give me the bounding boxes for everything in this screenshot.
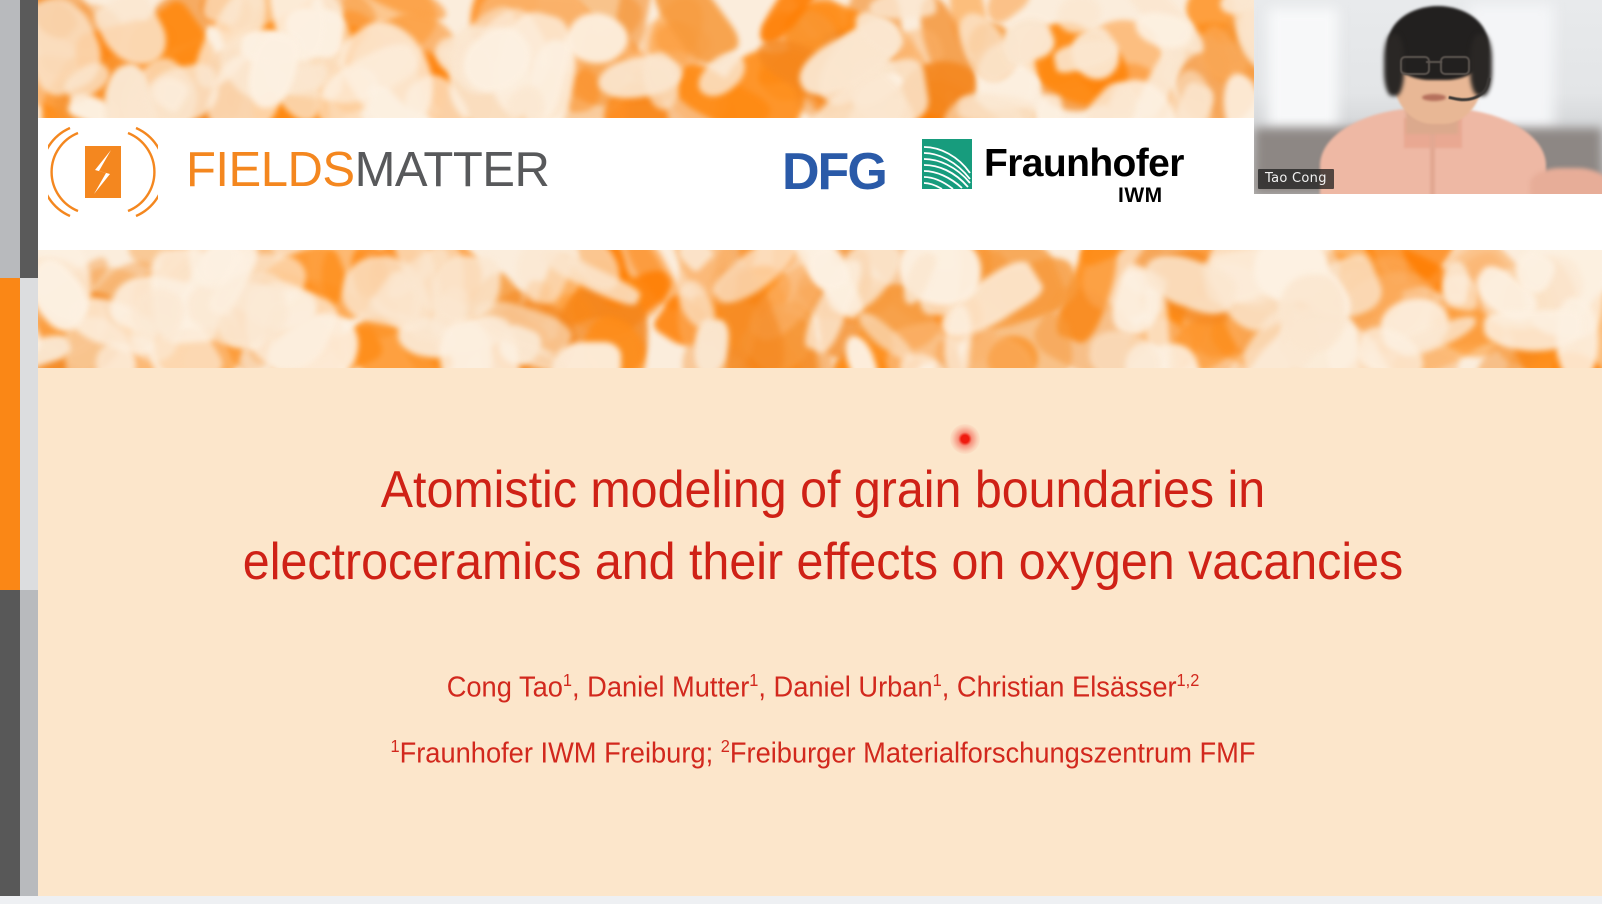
affiliation-text: Freiburger Materialforschungszentrum FMF [730, 738, 1256, 770]
dfg-logo: DFG [782, 142, 886, 202]
fields-matter-wordmark: FIELDSMATTER [186, 142, 549, 198]
participant-shirt-placket [1430, 126, 1435, 194]
author-affiliation-marker: 1,2 [1177, 670, 1200, 690]
window-bottom-edge [0, 896, 1602, 904]
left-gutter-middle [20, 278, 38, 590]
fields-matter-emblem-icon [48, 126, 158, 218]
participant-arm [1530, 168, 1602, 194]
left-gutter-upper [20, 0, 38, 278]
affiliation-marker: 1 [390, 736, 399, 756]
slide-title-line-2: electroceramics and their effects on oxy… [177, 527, 1470, 599]
fields-matter-word-primary: FIELDS [186, 143, 355, 197]
fraunhofer-mark-icon [922, 139, 972, 189]
fields-matter-word-secondary: MATTER [355, 143, 550, 197]
participant-glasses-left-lens [1400, 56, 1430, 75]
fraunhofer-wordmark: Fraunhofer [984, 142, 1184, 186]
affiliation-text: Fraunhofer IWM Freiburg [400, 738, 706, 770]
author-name: Christian Elsässer [957, 672, 1177, 704]
author-list: Cong Tao1, Daniel Mutter1, Daniel Urban1… [170, 670, 1477, 705]
author-affiliation-marker: 1 [563, 670, 572, 690]
grain-microstructure-band-bottom [38, 250, 1602, 368]
participant-name-label: Tao Cong [1258, 169, 1334, 189]
presentation-scrollbar[interactable] [0, 0, 20, 904]
scrollbar-thumb[interactable] [0, 278, 20, 590]
slide-title-line-1: Atomistic modeling of grain boundaries i… [177, 455, 1470, 527]
left-gutter-lower [20, 590, 38, 904]
left-gutter [20, 0, 38, 904]
video-background-window-left [1268, 8, 1338, 128]
fraunhofer-logo: Fraunhofer IWM [922, 136, 1142, 226]
participant-video-tile[interactable]: Tao Cong [1254, 0, 1602, 194]
fraunhofer-institute-label: IWM [1118, 184, 1163, 208]
laser-pointer-icon [950, 424, 980, 454]
author-name: Daniel Urban [774, 672, 933, 704]
author-affiliation-marker: 1 [749, 670, 758, 690]
author-name: Daniel Mutter [587, 672, 749, 704]
participant-glasses-bridge [1426, 61, 1442, 63]
author-name: Cong Tao [447, 672, 563, 704]
affiliation-list: 1Fraunhofer IWM Freiburg; 2Freiburger Ma… [170, 736, 1477, 771]
affiliation-marker: 2 [721, 736, 730, 756]
slide-title: Atomistic modeling of grain boundaries i… [177, 455, 1470, 599]
grain-patch-light [1278, 274, 1346, 353]
author-affiliation-marker: 1 [933, 670, 942, 690]
scrollbar-track-lower[interactable] [0, 590, 20, 904]
screen-share-window: FIELDSMATTER DFG [0, 0, 1602, 904]
scrollbar-track-upper[interactable] [0, 0, 20, 278]
participant-mouth [1422, 94, 1446, 101]
fields-matter-logo: FIELDSMATTER [48, 126, 528, 236]
